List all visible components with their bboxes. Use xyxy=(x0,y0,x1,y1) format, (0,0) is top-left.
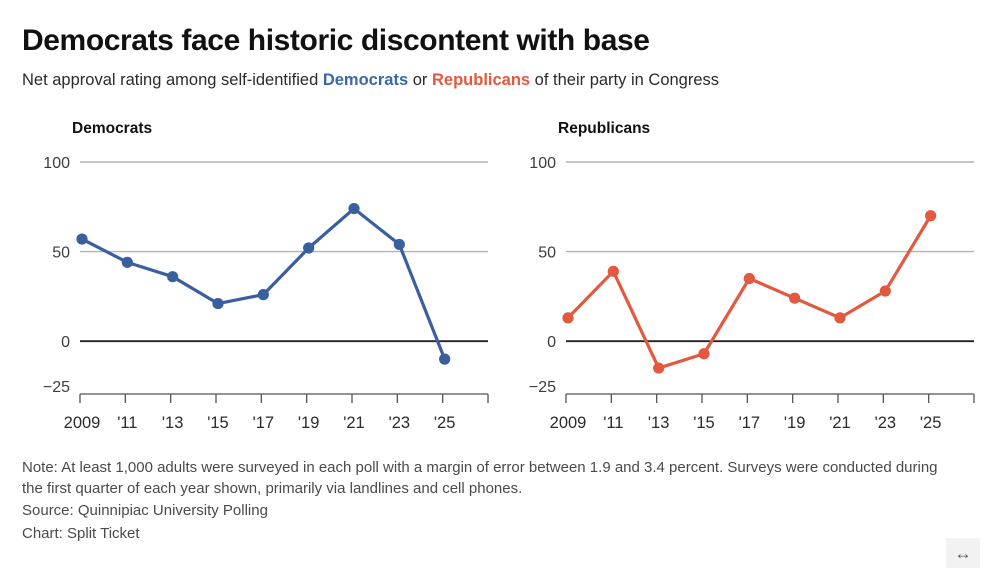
y-tick-label: −25 xyxy=(43,379,70,396)
data-point[interactable] xyxy=(880,285,891,296)
x-tick-label: 2009 xyxy=(64,414,101,432)
data-point[interactable] xyxy=(789,293,800,304)
x-tick-label: '17 xyxy=(739,414,761,432)
x-tick-label: '21 xyxy=(343,414,365,432)
x-tick-label: '25 xyxy=(920,414,942,432)
x-tick-label: '11 xyxy=(117,414,137,432)
data-point[interactable] xyxy=(167,271,178,282)
page-subtitle: Net approval rating among self-identifie… xyxy=(22,71,986,91)
x-tick-label: '15 xyxy=(693,414,715,432)
x-tick-label: '15 xyxy=(207,414,229,432)
x-tick-label: '21 xyxy=(829,414,851,432)
plot-democrats: −250501002009'11'13'15'17'19'21'23'25 xyxy=(14,110,500,440)
panel-democrats: Democrats −250501002009'11'13'15'17'19'2… xyxy=(14,110,500,440)
x-tick-label: '23 xyxy=(389,414,411,432)
data-point[interactable] xyxy=(698,348,709,359)
charts-row: Democrats −250501002009'11'13'15'17'19'2… xyxy=(14,110,986,440)
data-point[interactable] xyxy=(303,242,314,253)
series-line xyxy=(568,216,931,368)
plot-republicans: −250501002009'11'13'15'17'19'21'23'25 xyxy=(500,110,986,440)
x-tick-label: '17 xyxy=(253,414,275,432)
data-point[interactable] xyxy=(744,273,755,284)
x-tick-label: '11 xyxy=(603,414,623,432)
x-tick-label: '13 xyxy=(162,414,184,432)
subtitle-mid: or xyxy=(408,71,432,89)
chart-page: Democrats face historic discontent with … xyxy=(0,0,1000,580)
footer-source: Source: Quinnipiac University Polling xyxy=(22,501,972,522)
y-tick-label: 100 xyxy=(529,155,556,172)
data-point[interactable] xyxy=(439,354,450,365)
subtitle-tail: of their party in Congress xyxy=(530,71,719,89)
data-point[interactable] xyxy=(834,312,845,323)
y-tick-label: −25 xyxy=(529,379,556,396)
data-point[interactable] xyxy=(562,312,573,323)
x-tick-label: '19 xyxy=(298,414,320,432)
footer-chart-credit: Chart: Split Ticket xyxy=(22,524,972,545)
x-tick-label: '25 xyxy=(434,414,456,432)
x-tick-label: '19 xyxy=(784,414,806,432)
data-point[interactable] xyxy=(122,257,133,268)
subtitle-democrats: Democrats xyxy=(323,71,408,89)
panel-republicans: Republicans −250501002009'11'13'15'17'19… xyxy=(500,110,986,440)
footer: Note: At least 1,000 adults were surveye… xyxy=(22,458,972,545)
y-tick-label: 0 xyxy=(547,334,556,351)
subtitle-republicans: Republicans xyxy=(432,71,530,89)
y-tick-label: 0 xyxy=(61,334,70,351)
x-tick-label: 2009 xyxy=(550,414,587,432)
x-tick-label: '13 xyxy=(648,414,670,432)
chart-card: Democrats face historic discontent with … xyxy=(14,6,986,574)
data-point[interactable] xyxy=(653,362,664,373)
series-line xyxy=(82,209,445,360)
data-point[interactable] xyxy=(348,203,359,214)
footer-note: Note: At least 1,000 adults were surveye… xyxy=(22,458,962,499)
subtitle-lead: Net approval rating among self-identifie… xyxy=(22,71,323,89)
y-tick-label: 50 xyxy=(538,245,556,262)
page-title: Democrats face historic discontent with … xyxy=(22,24,986,57)
y-tick-label: 50 xyxy=(52,245,70,262)
y-tick-label: 100 xyxy=(43,155,70,172)
data-point[interactable] xyxy=(608,266,619,277)
horizontal-resize-icon[interactable]: ↔ xyxy=(946,538,980,568)
line-chart-democrats: −250501002009'11'13'15'17'19'21'23'25 xyxy=(14,110,500,440)
x-tick-label: '23 xyxy=(875,414,897,432)
data-point[interactable] xyxy=(258,289,269,300)
data-point[interactable] xyxy=(394,239,405,250)
data-point[interactable] xyxy=(76,233,87,244)
line-chart-republicans: −250501002009'11'13'15'17'19'21'23'25 xyxy=(500,110,986,440)
data-point[interactable] xyxy=(212,298,223,309)
data-point[interactable] xyxy=(925,210,936,221)
